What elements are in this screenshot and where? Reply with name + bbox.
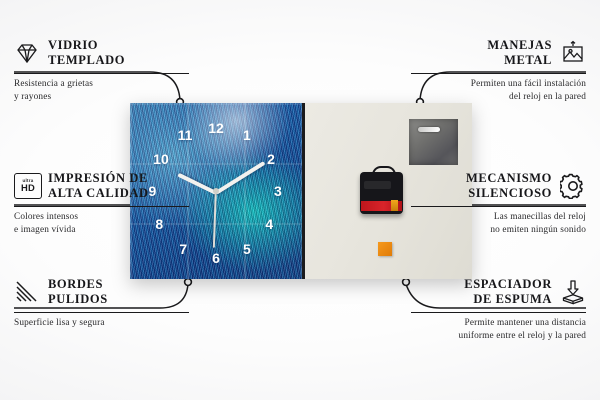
callout-divider: [14, 312, 189, 314]
callout-desc-line1: Resistencia a grietas: [14, 79, 93, 89]
callout-title-line2: DE ESPUMA: [473, 292, 552, 306]
callout-bordes-pulidos: BORDES PULIDOS Superficie lisa y segura: [14, 277, 189, 330]
clock-second-hand: [213, 192, 217, 248]
clock-center-pivot: [213, 188, 219, 194]
callout-title: IMPRESIÓN DE ALTA CALIDAD: [48, 171, 149, 201]
hanger-slot: [418, 127, 440, 132]
callout-desc-line2: e imagen vívida: [14, 225, 76, 235]
mechanism-surface-detail: [364, 181, 391, 189]
callout-desc-line1: Las manecillas del reloj: [494, 212, 586, 222]
callout-description: Permiten una fácil instalación del reloj…: [411, 78, 586, 103]
callout-header: VIDRIO TEMPLADO: [14, 38, 189, 68]
clock-numeral-10: 10: [153, 152, 169, 166]
callout-description: Resistencia a grietas y rayones: [14, 78, 189, 103]
callout-desc-line1: Permiten una fácil instalación: [471, 79, 586, 89]
callout-desc-line2: uniforme entre el reloj y la pared: [459, 331, 586, 341]
callout-impresion-alta-calidad: ultra HD IMPRESIÓN DE ALTA CALIDAD Color…: [14, 171, 189, 236]
callout-mecanismo-silencioso: MECANISMO SILENCIOSO Las manecillas del …: [411, 171, 586, 236]
callout-espaciador-de-espuma: ESPACIADOR DE ESPUMA Permite mantener un…: [411, 277, 586, 342]
callout-header: BORDES PULIDOS: [14, 277, 189, 307]
diamond-icon: [14, 40, 40, 66]
callout-title-line2: TEMPLADO: [48, 53, 125, 67]
callout-title-line1: MANEJAS: [487, 38, 552, 52]
clock-numeral-2: 2: [267, 152, 275, 166]
callout-desc-line1: Colores intensos: [14, 212, 78, 222]
callout-desc-line2: y rayones: [14, 92, 51, 102]
clock-numeral-7: 7: [179, 242, 187, 256]
callout-title: MANEJAS METAL: [487, 38, 552, 68]
clock-numeral-1: 1: [243, 128, 251, 142]
callout-header: MANEJAS METAL: [411, 38, 586, 68]
callout-title-line1: ESPACIADOR: [464, 277, 552, 291]
callout-desc-line1: Superficie lisa y segura: [14, 318, 105, 328]
callout-header: MECANISMO SILENCIOSO: [411, 171, 586, 201]
clock-numeral-12: 12: [208, 121, 224, 135]
callout-vidrio-templado: VIDRIO TEMPLADO Resistencia a grietas y …: [14, 38, 189, 103]
callout-title-line1: MECANISMO: [466, 171, 552, 185]
callout-description: Permite mantener una distancia uniforme …: [411, 317, 586, 342]
callout-desc-line2: del reloj en la pared: [509, 92, 586, 102]
callout-title: MECANISMO SILENCIOSO: [466, 171, 552, 201]
clock-numeral-5: 5: [243, 242, 251, 256]
callout-title-line2: ALTA CALIDAD: [48, 186, 149, 200]
callout-header: ESPACIADOR DE ESPUMA: [411, 277, 586, 307]
callout-title: BORDES PULIDOS: [48, 277, 108, 307]
picture-frame-icon: [560, 40, 586, 66]
clock-numeral-6: 6: [212, 251, 220, 265]
callout-divider: [411, 312, 586, 314]
callout-desc-line2: no emiten ningún sonido: [490, 225, 586, 235]
callout-divider: [14, 206, 189, 208]
callout-divider: [411, 73, 586, 75]
clock-numeral-11: 11: [178, 128, 193, 142]
clock-minute-hand: [215, 161, 265, 195]
callout-title-line2: SILENCIOSO: [468, 186, 552, 200]
metal-hanger-plate: [409, 119, 458, 165]
callout-manejas-metal: MANEJAS METAL Permiten una fácil instala…: [411, 38, 586, 103]
callout-divider: [14, 73, 189, 75]
polished-edge-icon: [14, 279, 40, 305]
callout-title: ESPACIADOR DE ESPUMA: [464, 277, 552, 307]
ultra-hd-main-text: HD: [21, 183, 35, 193]
callout-divider: [411, 206, 586, 208]
battery: [391, 200, 398, 211]
callout-title-line1: BORDES: [48, 277, 103, 291]
callout-title: VIDRIO TEMPLADO: [48, 38, 125, 68]
infographic-canvas: 12 1 2 3 4 5 6 7 8 9 10 11: [0, 0, 600, 400]
mechanism-hanger-loop: [372, 166, 396, 178]
foam-spacer: [378, 242, 392, 256]
quartz-mechanism-box: [360, 172, 403, 214]
clock-numeral-3: 3: [274, 184, 282, 198]
callout-description: Las manecillas del reloj no emiten ningú…: [411, 211, 586, 236]
foam-spacer-icon: [560, 279, 586, 305]
callout-title-line2: PULIDOS: [48, 292, 108, 306]
callout-description: Colores intensos e imagen vívida: [14, 211, 189, 236]
callout-description: Superficie lisa y segura: [14, 317, 189, 330]
gear-icon: [560, 173, 586, 199]
callout-desc-line1: Permite mantener una distancia: [465, 318, 586, 328]
clock-numeral-4: 4: [265, 217, 273, 231]
ultra-hd-icon: ultra HD: [14, 173, 40, 199]
callout-title-line1: VIDRIO: [48, 38, 98, 52]
callout-title-line2: METAL: [504, 53, 552, 67]
callout-title-line1: IMPRESIÓN DE: [48, 171, 148, 185]
callout-header: ultra HD IMPRESIÓN DE ALTA CALIDAD: [14, 171, 189, 201]
endpoint-dot-espaciador: [403, 279, 410, 286]
